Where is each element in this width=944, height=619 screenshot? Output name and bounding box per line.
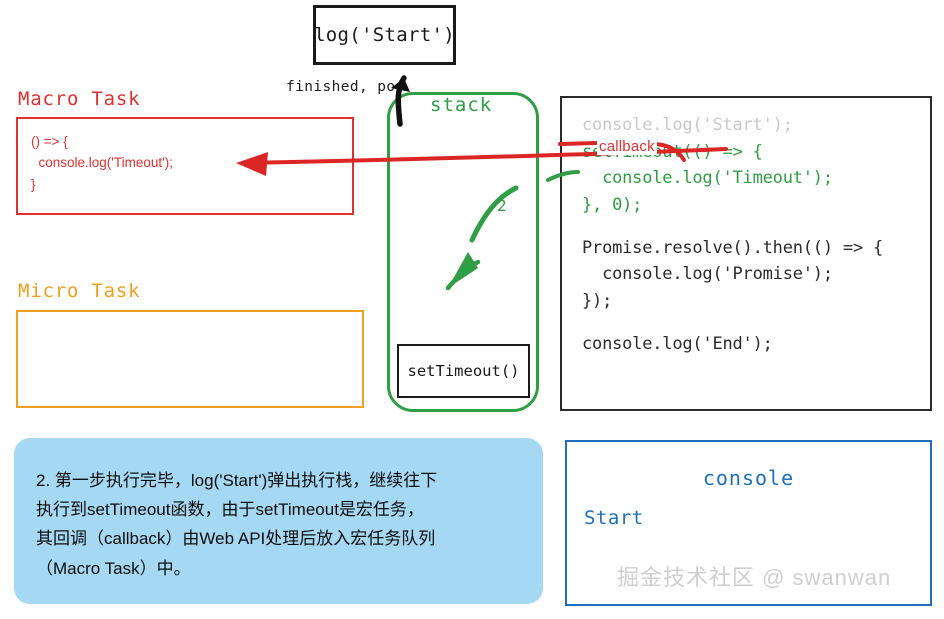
code-line: console.log('Timeout'); [582, 165, 930, 192]
code-line: }); [582, 288, 930, 315]
code-line: console.log('Start'); [582, 112, 930, 139]
console-output-line: Start [584, 507, 644, 529]
diagram-canvas: log('Start') finished, pop Macro Task ()… [0, 0, 944, 619]
code-line: console.log('Promise'); [582, 261, 930, 288]
code-blank-line [582, 315, 930, 331]
code-line: console.log('End'); [582, 331, 930, 358]
macro-task-queue-box: () => { console.log('Timeout'); } [16, 117, 354, 215]
explanation-bubble: 2. 第一步执行完毕，log('Start')弹出执行栈，继续往下 执行到set… [14, 438, 543, 604]
macro-task-code-line: () => { [31, 131, 352, 152]
macro-task-code: () => { console.log('Timeout'); } [18, 119, 352, 195]
explanation-line: 其回调（callback）由Web API处理后放入宏任务队列 [36, 524, 521, 553]
popped-frame-log-start: log('Start') [313, 5, 456, 65]
explanation-line: （Macro Task）中。 [36, 554, 521, 583]
console-title: console [567, 466, 930, 490]
finished-pop-annotation: finished, pop [286, 79, 405, 95]
explanation-line: 2. 第一步执行完毕，log('Start')弹出执行栈，继续往下 [36, 466, 521, 495]
console-output-panel: console Start 掘金技术社区 @ swanwan [565, 440, 932, 606]
code-blank-line [582, 219, 930, 235]
micro-task-title: Micro Task [18, 280, 140, 302]
call-stack-title: stack [430, 94, 492, 116]
macro-task-code-line: console.log('Timeout'); [31, 152, 352, 173]
explanation-line: 执行到setTimeout函数，由于setTimeout是宏任务， [36, 495, 521, 524]
callback-annotation-label: callback [597, 138, 657, 155]
macro-task-title: Macro Task [18, 88, 140, 110]
stack-frame-label: setTimeout() [408, 362, 520, 380]
stack-frame-settimeout: setTimeout() [397, 344, 530, 398]
code-line: Promise.resolve().then(() => { [582, 235, 930, 262]
watermark: 掘金技术社区 @ swanwan [617, 560, 891, 592]
macro-task-code-line: } [31, 174, 352, 195]
micro-task-queue-box [16, 310, 364, 408]
step-number-annotation: 2 [497, 196, 507, 215]
popped-frame-label: log('Start') [314, 24, 455, 46]
code-line: }, 0); [582, 192, 930, 219]
